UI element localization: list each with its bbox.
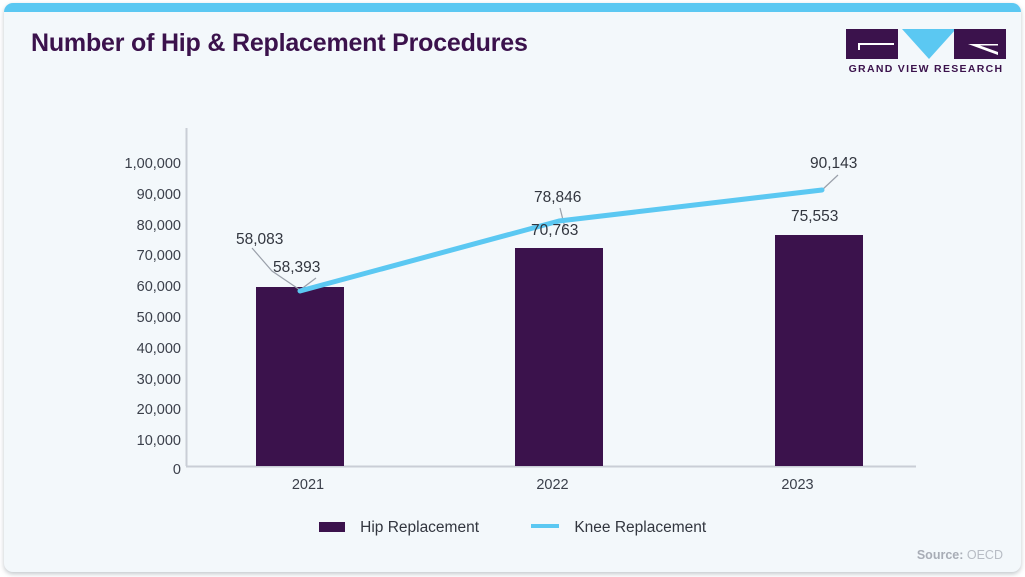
legend-label-knee-replacement: Knee Replacement [574, 519, 706, 537]
legend-item-hip-replacement[interactable]: Hip Replacement [319, 519, 479, 537]
data-label-hip-2023: 75,553 [791, 209, 838, 225]
y-tick-label: 50,000 [137, 311, 181, 326]
source-value: OECD [967, 548, 1003, 562]
y-tick-label: 0 [173, 463, 181, 478]
bar-hip-2022 [515, 248, 603, 466]
source-label: Source: [917, 548, 964, 562]
y-tick-label: 1,00,000 [125, 157, 181, 172]
chart-card: Number of Hip & Replacement Procedures G… [4, 3, 1021, 572]
y-tick-label: 10,000 [137, 434, 181, 449]
y-tick-label: 30,000 [137, 373, 181, 388]
bar-hip-2021 [256, 287, 344, 466]
x-tick-label-2021: 2021 [186, 477, 430, 493]
x-tick-label-2023: 2023 [675, 477, 920, 493]
legend-item-knee-replacement[interactable]: Knee Replacement [531, 519, 706, 537]
bar-hip-2023 [775, 235, 863, 466]
chart-legend: Hip Replacement Knee Replacement [4, 519, 1021, 537]
legend-label-hip-replacement: Hip Replacement [360, 519, 479, 537]
data-label-hip-2022: 70,763 [531, 223, 578, 239]
source-note: Source: OECD [917, 548, 1003, 562]
x-axis-ticks: 2021 2022 2023 [186, 477, 920, 499]
legend-bar-swatch-icon [319, 522, 345, 532]
legend-line-swatch-icon [531, 524, 559, 528]
leader-line-knee-2023 [822, 175, 838, 190]
y-tick-label: 80,000 [137, 219, 181, 234]
data-label-hip-2021: 58,083 [236, 232, 283, 248]
data-label-knee-2021: 58,393 [273, 260, 320, 276]
y-tick-label: 40,000 [137, 342, 181, 357]
data-label-knee-2022: 78,846 [534, 190, 581, 206]
x-tick-label-2022: 2022 [430, 477, 675, 493]
y-tick-label: 90,000 [137, 188, 181, 203]
y-tick-label: 70,000 [137, 249, 181, 264]
y-tick-label: 60,000 [137, 280, 181, 295]
data-label-knee-2023: 90,143 [810, 156, 857, 172]
y-tick-label: 20,000 [137, 403, 181, 418]
y-axis-ticks: 1,00,000 90,000 80,000 70,000 60,000 50,… [99, 3, 181, 572]
